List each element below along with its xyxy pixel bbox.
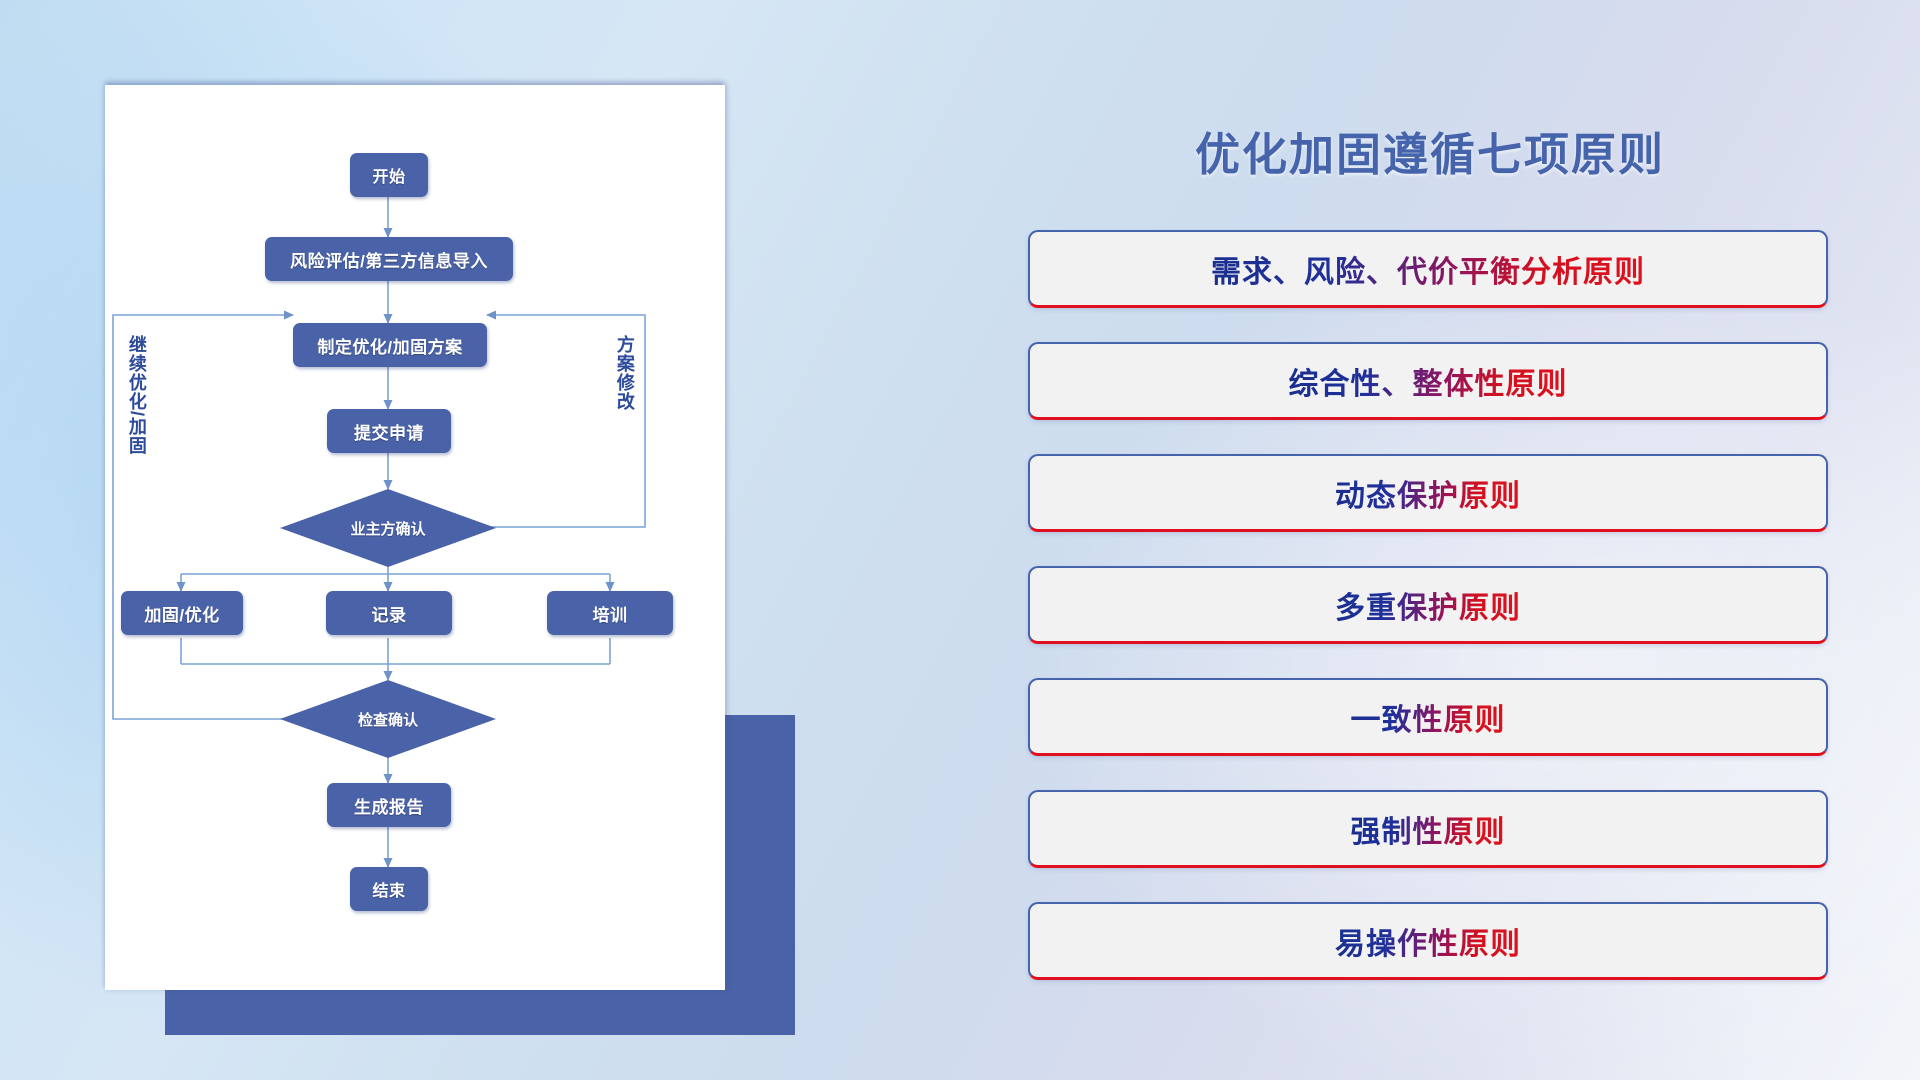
flow-node-label: 提交申请 bbox=[354, 419, 424, 444]
flow-node-label: 开始 bbox=[372, 163, 405, 187]
flow-node-record: 记录 bbox=[326, 591, 452, 635]
flow-node-label: 生成报告 bbox=[354, 793, 424, 818]
principle-label: 综合性、整体性原则 bbox=[1289, 359, 1568, 403]
principle-list: 需求、风险、代价平衡分析原则 综合性、整体性原则 动态保护原则 多重保护原则 一… bbox=[1028, 230, 1828, 1014]
flow-node-start: 开始 bbox=[350, 153, 428, 197]
principle-item[interactable]: 多重保护原则 bbox=[1028, 566, 1828, 644]
flow-node-end: 结束 bbox=[350, 867, 428, 911]
flow-node-generate-report: 生成报告 bbox=[327, 783, 451, 827]
edge-label-continue-optimize: 继续优化/加固 bbox=[127, 335, 146, 455]
principle-label: 动态保护原则 bbox=[1335, 471, 1521, 515]
principle-label: 强制性原则 bbox=[1351, 807, 1506, 851]
principles-panel: 优化加固遵循七项原则 需求、风险、代价平衡分析原则 综合性、整体性原则 动态保护… bbox=[1010, 60, 1850, 1020]
flow-node-training: 培训 bbox=[547, 591, 673, 635]
principle-item[interactable]: 需求、风险、代价平衡分析原则 bbox=[1028, 230, 1828, 308]
principle-label: 易操作性原则 bbox=[1335, 919, 1521, 963]
flow-node-risk-assessment: 风险评估/第三方信息导入 bbox=[265, 237, 513, 281]
flowchart-region: 开始 风险评估/第三方信息导入 制定优化/加固方案 提交申请 业主方确认 加固/… bbox=[60, 55, 820, 1005]
principle-item[interactable]: 易操作性原则 bbox=[1028, 902, 1828, 980]
flowchart-card: 开始 风险评估/第三方信息导入 制定优化/加固方案 提交申请 业主方确认 加固/… bbox=[105, 85, 725, 990]
flow-node-label: 加固/优化 bbox=[144, 601, 219, 626]
principle-label: 多重保护原则 bbox=[1335, 583, 1521, 627]
flow-node-owner-confirm: 业主方确认 bbox=[280, 489, 496, 567]
principle-item[interactable]: 动态保护原则 bbox=[1028, 454, 1828, 532]
page-title: 优化加固遵循七项原则 bbox=[1010, 118, 1850, 183]
flow-node-check-confirm: 检查确认 bbox=[280, 680, 496, 758]
flow-node-plan: 制定优化/加固方案 bbox=[293, 323, 487, 367]
flow-node-reinforce-optimize: 加固/优化 bbox=[121, 591, 243, 635]
flow-node-label: 结束 bbox=[372, 877, 405, 901]
flow-node-label: 业主方确认 bbox=[350, 518, 425, 539]
principle-item[interactable]: 强制性原则 bbox=[1028, 790, 1828, 868]
edge-label-plan-revision: 方案修改 bbox=[615, 335, 634, 411]
principle-label: 一致性原则 bbox=[1351, 695, 1506, 739]
flow-node-submit-application: 提交申请 bbox=[327, 409, 451, 453]
principle-item[interactable]: 综合性、整体性原则 bbox=[1028, 342, 1828, 420]
flow-node-label: 制定优化/加固方案 bbox=[317, 333, 462, 358]
flow-node-label: 风险评估/第三方信息导入 bbox=[290, 247, 488, 272]
flow-node-label: 检查确认 bbox=[358, 709, 418, 730]
flow-node-label: 记录 bbox=[372, 601, 407, 626]
principle-item[interactable]: 一致性原则 bbox=[1028, 678, 1828, 756]
principle-label: 需求、风险、代价平衡分析原则 bbox=[1211, 247, 1645, 291]
flow-node-label: 培训 bbox=[593, 601, 628, 626]
card-accent-shape-bottom bbox=[165, 985, 795, 1035]
